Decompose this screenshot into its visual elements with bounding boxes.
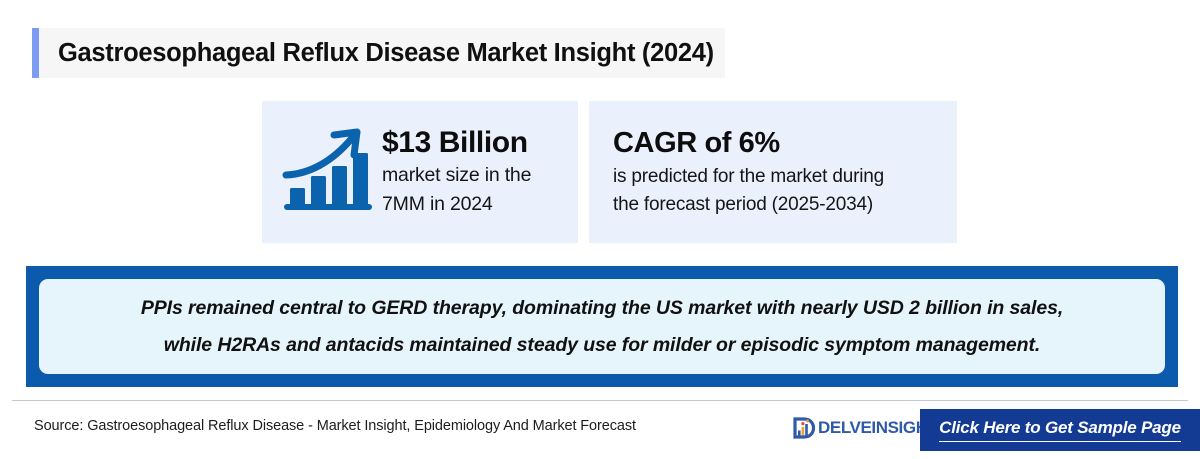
get-sample-page-button-label: Click Here to Get Sample Page	[939, 418, 1181, 442]
highlight-text-line-1: PPIs remained central to GERD therapy, d…	[141, 290, 1063, 326]
delveinsight-logo-icon	[793, 415, 817, 441]
get-sample-page-button[interactable]: Click Here to Get Sample Page	[920, 409, 1200, 451]
stat-description-line-1: is predicted for the market during	[613, 164, 884, 189]
stat-description-line-2: 7MM in 2024	[382, 192, 531, 218]
footer-divider	[12, 400, 1188, 401]
delveinsight-logo: DELVEINSIGHT	[793, 414, 938, 442]
source-text: Source: Gastroesophageal Reflux Disease …	[34, 418, 636, 434]
stat-value: CAGR of 6%	[613, 127, 884, 161]
page-title: Gastroesophageal Reflux Disease Market I…	[39, 39, 714, 68]
stat-card-market-size: $13 Billion market size in the 7MM in 20…	[262, 101, 578, 243]
stat-card-cagr: CAGR of 6% is predicted for the market d…	[589, 101, 957, 243]
stat-value: $13 Billion	[382, 126, 531, 161]
stat-card-text: CAGR of 6% is predicted for the market d…	[613, 127, 884, 217]
highlight-text-line-2: while H2RAs and antacids maintained stea…	[164, 327, 1040, 363]
stat-card-text: $13 Billion market size in the 7MM in 20…	[382, 126, 531, 219]
title-accent-bar	[32, 28, 39, 78]
page-title-banner: Gastroesophageal Reflux Disease Market I…	[32, 28, 725, 78]
highlight-panel: PPIs remained central to GERD therapy, d…	[26, 266, 1178, 387]
growth-bar-chart-icon	[276, 126, 372, 218]
stat-description-line-2: the forecast period (2025-2034)	[613, 192, 884, 217]
stat-description-line-1: market size in the	[382, 163, 531, 189]
highlight-panel-inner: PPIs remained central to GERD therapy, d…	[39, 279, 1165, 374]
